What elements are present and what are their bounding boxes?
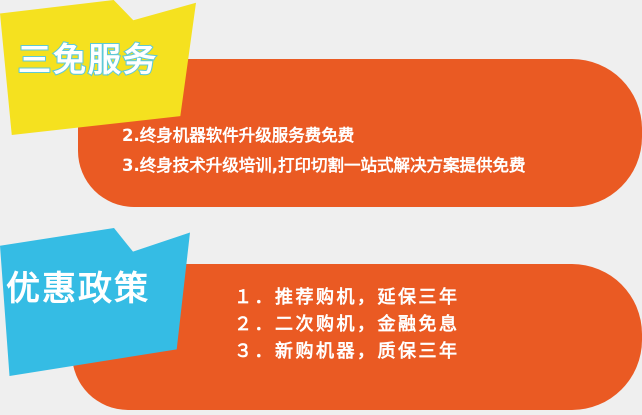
section-three-free-service: 三免服务 2.终身机器软件升级服务费免费 3.终身技术升级培训,打印切割一站式解… — [0, 0, 642, 207]
list-item: ２．二次购机，金融免息 — [234, 311, 460, 338]
list-item: 2.终身机器软件升级服务费免费 — [122, 121, 526, 151]
list-item: １．推荐购机，延保三年 — [234, 284, 460, 311]
list-item: ３．新购机器，质保三年 — [234, 338, 460, 365]
section-title-three-free-service: 三免服务 — [18, 43, 158, 76]
list-item: 3.终身技术升级培训,打印切割一站式解决方案提供免费 — [122, 151, 526, 181]
section-title-preferential-policy: 优惠政策 — [6, 272, 150, 306]
service-benefit-list: 2.终身机器软件升级服务费免费 3.终身技术升级培训,打印切割一站式解决方案提供… — [122, 121, 526, 181]
promo-poster: 三免服务 2.终身机器软件升级服务费免费 3.终身技术升级培训,打印切割一站式解… — [0, 0, 642, 415]
policy-benefit-list: １．推荐购机，延保三年 ２．二次购机，金融免息 ３．新购机器，质保三年 — [234, 284, 460, 365]
